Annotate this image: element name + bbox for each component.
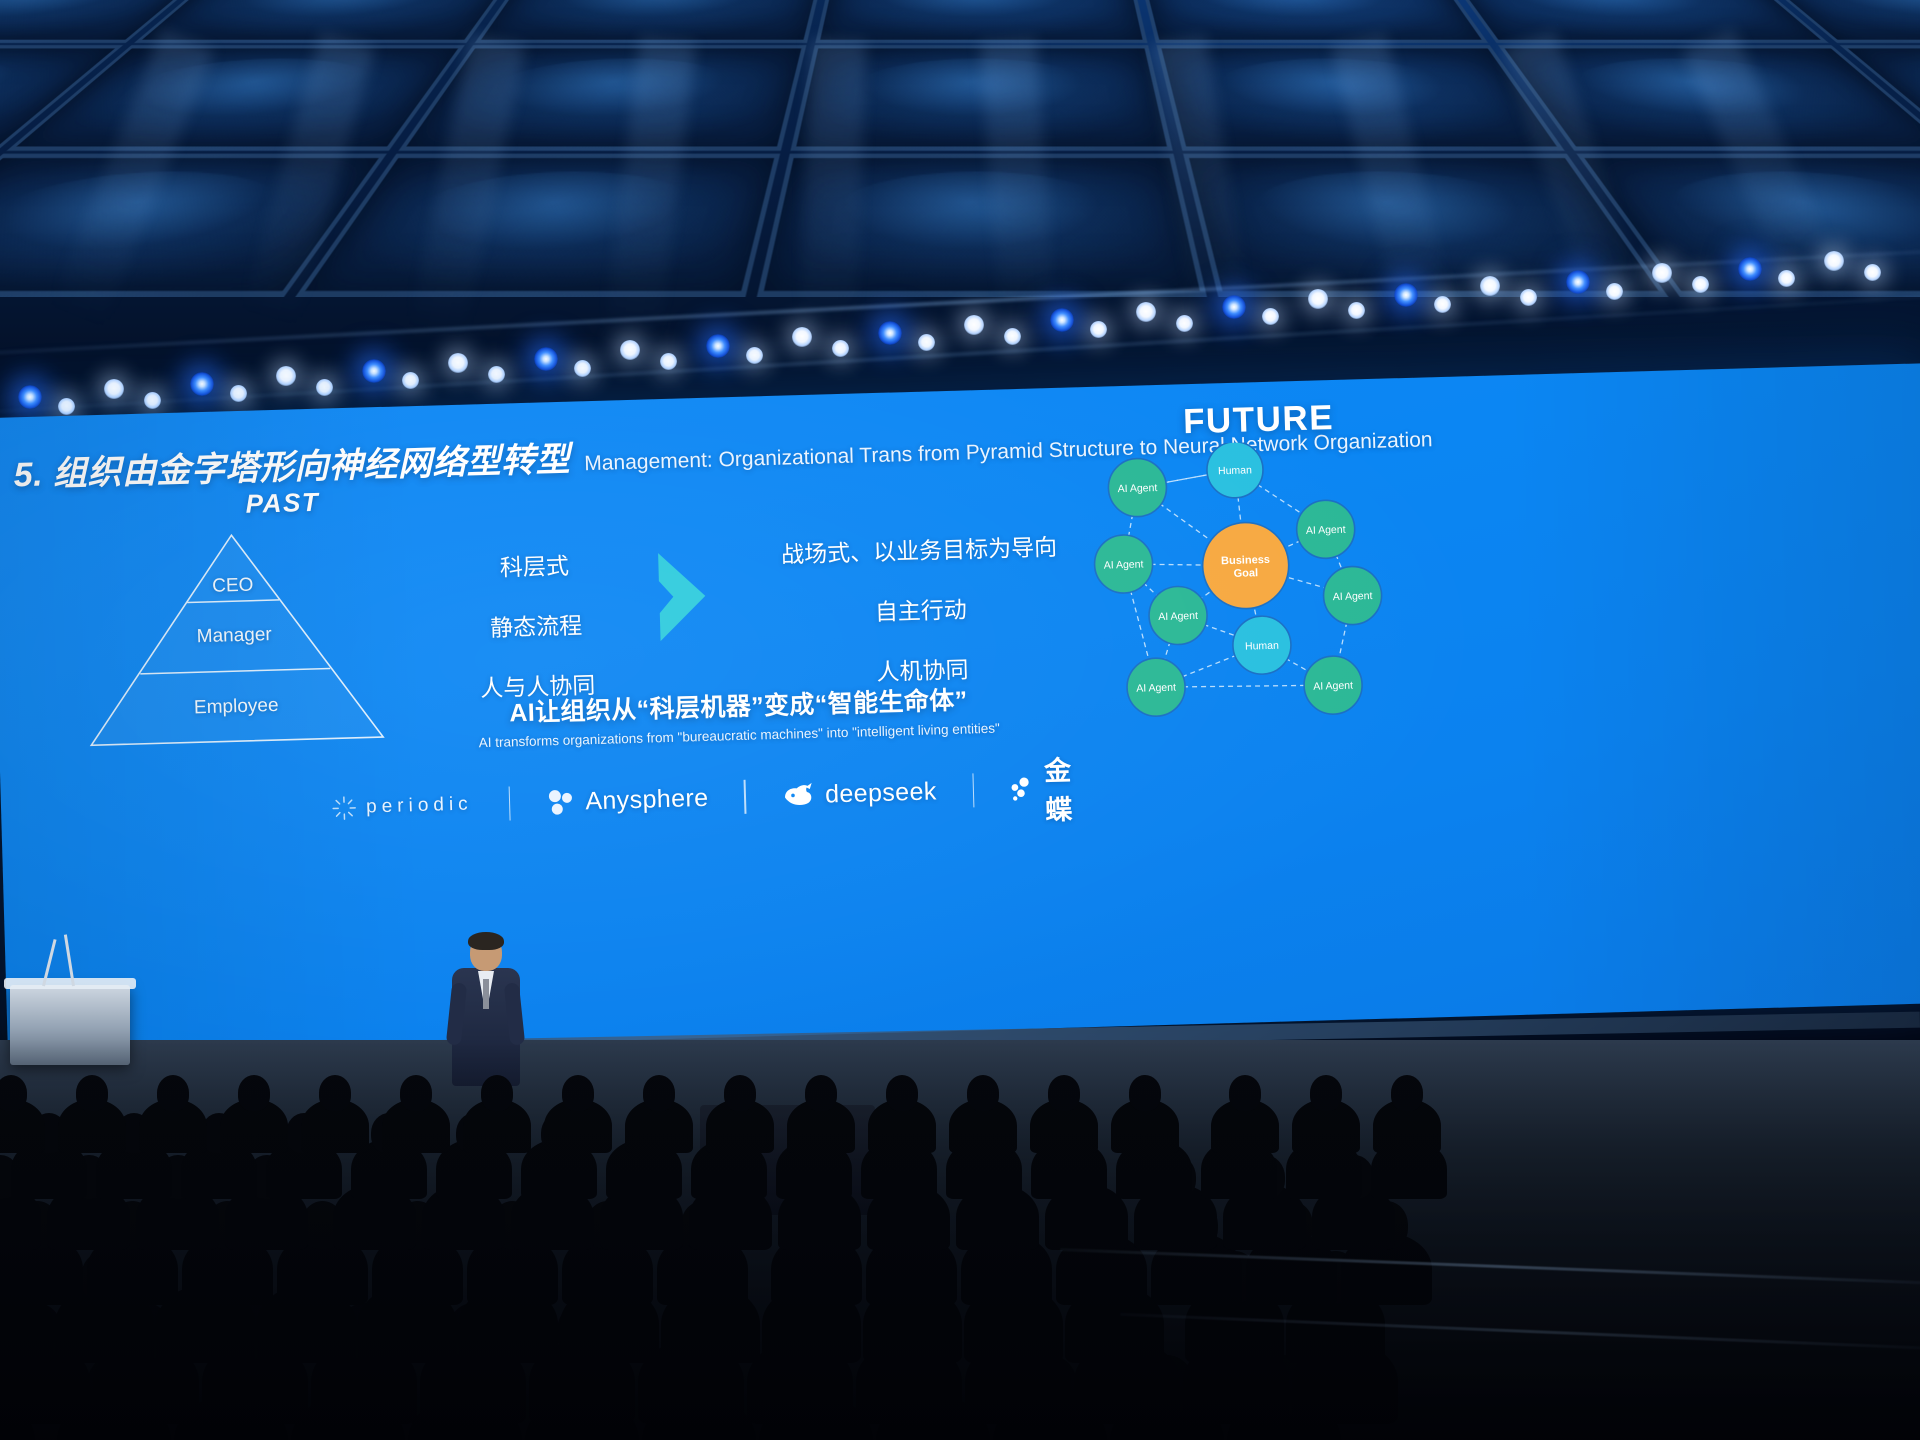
whale-icon xyxy=(782,781,817,810)
svg-text:AI Agent: AI Agent xyxy=(1136,682,1176,695)
dots-icon xyxy=(1010,774,1036,805)
svg-text:Goal: Goal xyxy=(1234,567,1259,580)
neural-network-diagram: AI AgentHumanAI AgentAI AgentBusinessGoa… xyxy=(1066,439,1374,737)
stage-light xyxy=(190,372,214,396)
stage-light xyxy=(104,379,124,399)
stage-light xyxy=(792,327,812,347)
stage-light xyxy=(706,334,730,358)
stage-light xyxy=(660,353,677,370)
logo-kingdee: 金蝶 xyxy=(1009,748,1092,828)
stage-light xyxy=(1262,308,1279,325)
conference-photo: 管理AI 5. 组织由金字塔形向神经网络型转型 Management: Orga… xyxy=(0,0,1920,1440)
stage-light xyxy=(1176,315,1193,332)
logo-kingdee-text: 金蝶 xyxy=(1044,748,1092,827)
stage-light xyxy=(488,366,505,383)
sponsor-logo-bar: periodic Anysphere deepseek xyxy=(330,757,1091,838)
svg-text:AI Agent: AI Agent xyxy=(1306,524,1346,537)
stage-light xyxy=(58,398,75,415)
stage-light xyxy=(1864,264,1881,281)
network-svg: AI AgentHumanAI AgentAI AgentBusinessGoa… xyxy=(1066,439,1394,743)
future-label: FUTURE xyxy=(1158,397,1359,443)
svg-text:AI Agent: AI Agent xyxy=(1158,610,1198,623)
stage-light xyxy=(918,334,935,351)
svg-text:AI Agent: AI Agent xyxy=(1333,590,1373,603)
stage-light xyxy=(1824,251,1844,271)
stage-light xyxy=(1394,283,1418,307)
svg-text:AI Agent: AI Agent xyxy=(1104,558,1144,571)
speaker-tie xyxy=(483,979,489,1009)
speaker-hair xyxy=(468,932,504,950)
stage-light xyxy=(1434,296,1451,313)
stage-light xyxy=(1566,270,1590,294)
stage-light xyxy=(1738,257,1762,281)
logo-divider xyxy=(508,786,511,820)
svg-text:Business: Business xyxy=(1221,554,1270,567)
logo-deepseek-text: deepseek xyxy=(825,777,937,809)
past-label: PAST xyxy=(192,485,373,521)
stage-light xyxy=(1778,270,1795,287)
logo-periodic-text: periodic xyxy=(366,794,473,819)
past-attribute: 静态流程 xyxy=(436,605,637,645)
stage-light xyxy=(1606,283,1623,300)
stage-light xyxy=(230,385,247,402)
logo-divider xyxy=(972,773,975,807)
stage-light xyxy=(18,385,42,409)
stage-light xyxy=(1050,308,1074,332)
past-attribute: 科层式 xyxy=(434,545,635,585)
future-attribute: 战场式、以业务目标为导向 xyxy=(754,527,1085,570)
svg-text:AI Agent: AI Agent xyxy=(1313,680,1353,693)
stage-light xyxy=(448,353,468,373)
future-attribute: 自主行动 xyxy=(755,587,1086,630)
stage-light xyxy=(1090,321,1107,338)
stage-light xyxy=(1136,302,1156,322)
sparkle-icon xyxy=(331,795,358,822)
stage-light xyxy=(276,366,296,386)
stage-light xyxy=(534,347,558,371)
stage-light xyxy=(620,340,640,360)
logo-periodic: periodic xyxy=(331,792,473,822)
presentation-screen: 管理AI 5. 组织由金字塔形向神经网络型转型 Management: Orga… xyxy=(0,363,1920,1058)
svg-text:Human: Human xyxy=(1218,464,1252,477)
stage-light xyxy=(746,347,763,364)
stage-light xyxy=(832,340,849,357)
logo-anysphere-text: Anysphere xyxy=(585,783,709,815)
logo-deepseek: deepseek xyxy=(782,777,937,810)
logo-anysphere: Anysphere xyxy=(546,783,709,818)
logo-divider xyxy=(744,780,747,814)
light-beam xyxy=(800,39,866,341)
right-arrow-icon xyxy=(656,550,711,648)
dots-icon xyxy=(546,787,577,818)
stage-light xyxy=(144,392,161,409)
svg-text:AI Agent: AI Agent xyxy=(1117,482,1157,495)
stage-light xyxy=(964,315,984,335)
svg-text:Human: Human xyxy=(1245,640,1279,653)
stage-light xyxy=(574,360,591,377)
stage-light xyxy=(1520,289,1537,306)
pyramid-diagram: CEO Manager Employee xyxy=(81,527,387,750)
stage-light xyxy=(1004,328,1021,345)
audience-shadow-overlay xyxy=(0,1040,1920,1440)
stage-light xyxy=(362,359,386,383)
stage-light xyxy=(1308,289,1328,309)
stage-light xyxy=(316,379,333,396)
stage-light xyxy=(1348,302,1365,319)
stage-light xyxy=(878,321,902,345)
